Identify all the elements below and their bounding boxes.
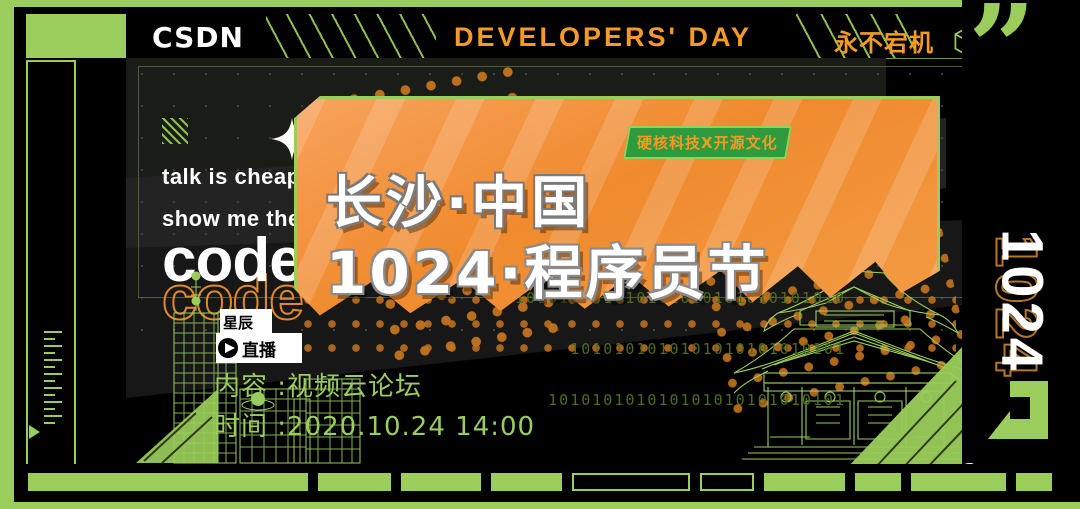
bottom-bar-block xyxy=(572,473,691,491)
bottom-bar-block xyxy=(28,473,308,491)
vertical-number: 1024 xyxy=(989,192,1056,412)
bottom-bar-block xyxy=(911,473,1006,491)
bottom-bar-block xyxy=(855,473,900,491)
bottom-bar-block xyxy=(318,473,391,491)
left-rail-inner-bar xyxy=(32,66,42,465)
title-line-event: 1024·程序员节 xyxy=(326,226,946,310)
bottom-bar-block xyxy=(1016,473,1052,491)
down-arrow-icon xyxy=(986,381,1056,443)
bottom-bar xyxy=(14,464,1066,502)
bottom-bar-blocks xyxy=(28,473,1052,491)
developers-day-title: DEVELOPERS' DAY xyxy=(126,22,1080,53)
quote-mark-decor: ” xyxy=(968,6,1036,91)
bottom-green-strip xyxy=(0,502,1080,509)
event-content-line: 内容 :视频云论坛 xyxy=(214,367,535,407)
bottom-bar-block xyxy=(700,473,754,491)
never-down-slogan: 永不宕机 xyxy=(834,23,934,58)
bottom-bar-block xyxy=(401,473,481,491)
right-vertical-panel: ” 1024 1024 星辰在线 www.changsha.cn xyxy=(962,0,1080,509)
svg-text:星辰: 星辰 xyxy=(223,314,254,332)
hatch-swatch-icon xyxy=(162,118,188,144)
artboard: talk is cheap, show me the code code xyxy=(126,58,1080,471)
top-header-bar: CSDN DEVELOPERS' DAY 永不宕机 xyxy=(126,14,1080,58)
event-time-line: 时间 :2020.10.24 14:00 xyxy=(214,407,535,447)
promo-banner: CSDN DEVELOPERS' DAY 永不宕机 talk is cheap,… xyxy=(0,0,1080,509)
rail-arrow-icon xyxy=(29,425,40,439)
bottom-bar-block xyxy=(764,473,845,491)
tagline-ribbon: 硬核科技X开源文化 xyxy=(623,126,791,159)
event-info: 内容 :视频云论坛 时间 :2020.10.24 14:00 xyxy=(214,367,535,447)
corner-square-decor xyxy=(26,14,126,58)
tick-marks-decor xyxy=(44,331,62,461)
ribbon-label: 硬核科技X开源文化 xyxy=(637,132,778,153)
bottom-bar-block xyxy=(491,473,561,491)
binary-row: 1010101010101010101010101 xyxy=(426,341,846,358)
xingchen-live-logo: 星辰 直播 xyxy=(216,309,308,363)
svg-text:直播: 直播 xyxy=(242,340,277,361)
